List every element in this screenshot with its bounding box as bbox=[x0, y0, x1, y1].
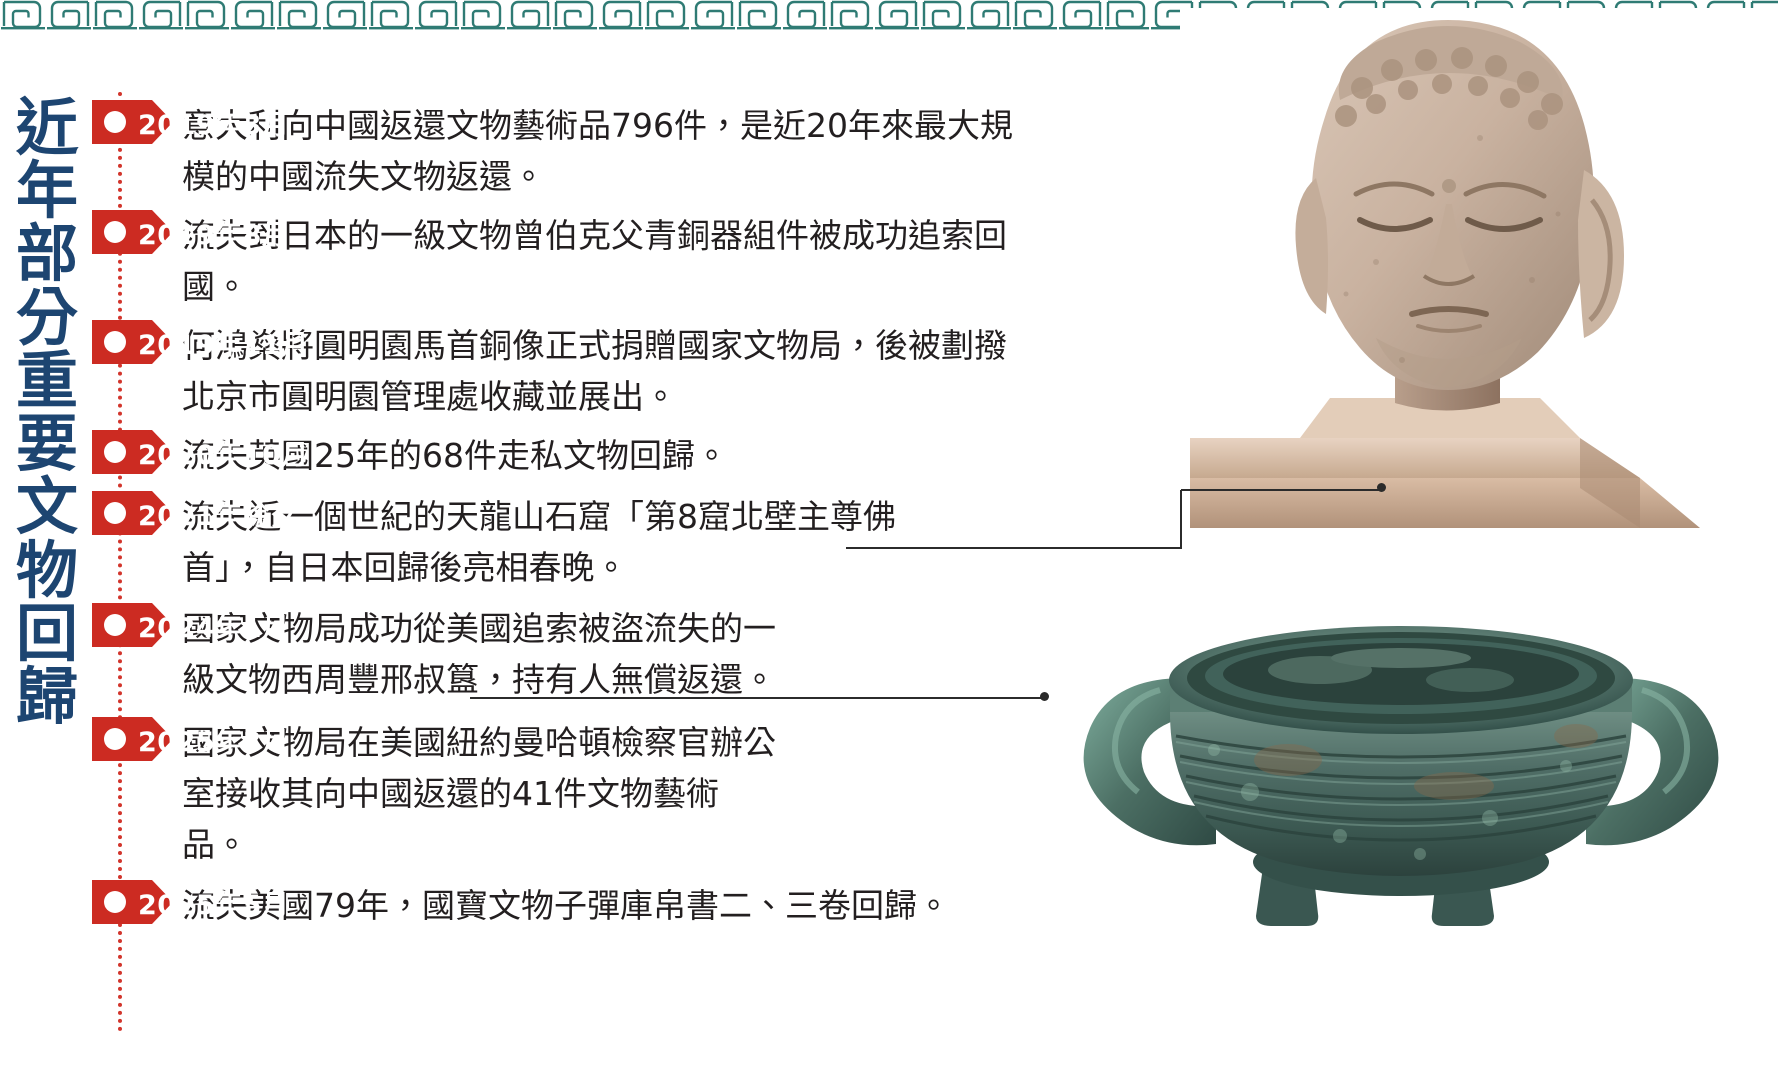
timeline-entry: 2021年除夕流失近一個世紀的天龍山石窟「第8窟北壁主尊佛首」，自日本回歸後亮相… bbox=[92, 491, 1202, 593]
timeline-entry: 2024年1月國家文物局成功從美國追索被盜流失的一級文物西周豐邢叔簋，持有人無償… bbox=[92, 603, 1202, 705]
timeline-entry-text: 意大利向中國返還文物藝術品796件，是近20年來最大規模的中國流失文物返還。 bbox=[182, 100, 1022, 202]
border-motif-cell bbox=[782, 0, 828, 30]
page-title-char: 要 bbox=[8, 412, 86, 475]
timeline-date-chip[interactable]: 2019年3月 bbox=[92, 100, 152, 144]
border-motif-cell bbox=[368, 0, 414, 30]
border-motif-cell bbox=[460, 0, 506, 30]
border-motif-cell bbox=[414, 0, 460, 30]
page-title: 近年部分重要文物回歸 bbox=[8, 96, 86, 728]
timeline-entry: 2019年11月何鴻燊將圓明園馬首銅像正式捐贈國家文物局，後被劃撥北京市圓明園管… bbox=[92, 320, 1202, 422]
bullet-dot-icon bbox=[104, 221, 126, 243]
leader-dot-gui bbox=[1040, 692, 1049, 701]
border-motif-cell bbox=[1058, 0, 1104, 30]
timeline-entry-text: 流失到日本的一級文物曾伯克父青銅器組件被成功追索回國。 bbox=[182, 210, 1022, 312]
timeline-entry: 2020年10月流失英國25年的68件走私文物回歸。 bbox=[92, 430, 1202, 481]
timeline-entry-paragraph: 流失美國79年，國寶文物子彈庫帛書二、三卷回歸。 bbox=[182, 880, 950, 931]
bullet-dot-icon bbox=[104, 441, 126, 463]
timeline-date-chip[interactable]: 2024年1月 bbox=[92, 603, 152, 647]
timeline-entry: 2025年3月國家文物局在美國紐約曼哈頓檢察官辦公室接收其向中國返還的41件文物… bbox=[92, 717, 1202, 870]
border-motif-cell bbox=[230, 0, 276, 30]
page-title-char: 近 bbox=[8, 96, 86, 159]
page-title-char: 部 bbox=[8, 222, 86, 285]
border-motif-cell bbox=[276, 0, 322, 30]
timeline-date-chip[interactable]: 2021年除夕 bbox=[92, 491, 152, 535]
page-title-char: 年 bbox=[8, 159, 86, 222]
timeline-date-chip[interactable]: 2025年3月 bbox=[92, 717, 152, 761]
border-motif-cell bbox=[0, 0, 46, 30]
border-motif-cell bbox=[874, 0, 920, 30]
bullet-dot-icon bbox=[104, 728, 126, 750]
timeline-date-label: 2019年3月 bbox=[138, 103, 289, 142]
timeline-date-label: 2025年3月 bbox=[138, 720, 289, 759]
timeline-entry: 2025年5月流失美國79年，國寶文物子彈庫帛書二、三卷回歸。 bbox=[92, 880, 1202, 931]
timeline-date-label: 2020年10月 bbox=[138, 433, 309, 472]
timeline-date-label: 2019年11月 bbox=[138, 323, 309, 362]
timeline-entry: 2019年3月意大利向中國返還文物藝術品796件，是近20年來最大規模的中國流失… bbox=[92, 100, 1202, 202]
timeline-entry-paragraph: 流失到日本的一級文物曾伯克父青銅器組件被成功追索回國。 bbox=[182, 210, 1022, 312]
border-motif-cell bbox=[644, 0, 690, 30]
bullet-dot-icon bbox=[104, 891, 126, 913]
border-motif-cell bbox=[92, 0, 138, 30]
leader-line-buddha bbox=[846, 547, 1182, 549]
timeline-entry-text: 流失美國79年，國寶文物子彈庫帛書二、三卷回歸。 bbox=[182, 880, 950, 931]
leader-line-buddha-upper bbox=[1181, 489, 1381, 491]
border-motif-cell bbox=[736, 0, 782, 30]
timeline-date-label: 2021年除夕 bbox=[138, 494, 298, 533]
page-title-char: 回 bbox=[8, 602, 86, 665]
leader-line-gui bbox=[470, 697, 1045, 699]
border-motif-cell bbox=[322, 0, 368, 30]
timeline-entry-paragraph: 意大利向中國返還文物藝術品796件，是近20年來最大規模的中國流失文物返還。 bbox=[182, 100, 1022, 202]
border-motif-cell bbox=[46, 0, 92, 30]
timeline-date-chip[interactable]: 2019年11月 bbox=[92, 320, 152, 364]
timeline-date-label: 2024年1月 bbox=[138, 606, 289, 645]
bullet-dot-icon bbox=[104, 111, 126, 133]
bullet-dot-icon bbox=[104, 331, 126, 353]
border-motif-cell bbox=[828, 0, 874, 30]
timeline-date-label: 2019年8月 bbox=[138, 213, 289, 252]
page-title-char: 物 bbox=[8, 539, 86, 602]
page-title-char: 文 bbox=[8, 475, 86, 538]
border-motif-cell bbox=[598, 0, 644, 30]
border-motif-cell bbox=[1012, 0, 1058, 30]
border-motif-cell bbox=[1104, 0, 1150, 30]
border-motif-cell bbox=[920, 0, 966, 30]
page-title-char: 重 bbox=[8, 349, 86, 412]
bullet-dot-icon bbox=[104, 502, 126, 524]
timeline-date-chip[interactable]: 2020年10月 bbox=[92, 430, 152, 474]
infographic-page: 近年部分重要文物回歸 bbox=[0, 0, 1778, 1078]
border-motif-cell bbox=[966, 0, 1012, 30]
timeline-date-chip[interactable]: 2019年8月 bbox=[92, 210, 152, 254]
timeline-date-label: 2025年5月 bbox=[138, 883, 289, 922]
timeline-entry: 2019年8月流失到日本的一級文物曾伯克父青銅器組件被成功追索回國。 bbox=[92, 210, 1202, 312]
border-motif-cell bbox=[690, 0, 736, 30]
border-motif-cell bbox=[184, 0, 230, 30]
leader-line-buddha-riser bbox=[1180, 490, 1182, 549]
page-title-char: 分 bbox=[8, 286, 86, 349]
timeline-list: 2019年3月意大利向中國返還文物藝術品796件，是近20年來最大規模的中國流失… bbox=[92, 100, 1202, 931]
border-motif-cell bbox=[506, 0, 552, 30]
border-motif-cell bbox=[552, 0, 598, 30]
timeline-date-chip[interactable]: 2025年5月 bbox=[92, 880, 152, 924]
border-motif-cell bbox=[138, 0, 184, 30]
bullet-dot-icon bbox=[104, 614, 126, 636]
buddha-head-photo bbox=[1180, 8, 1778, 560]
page-title-char: 歸 bbox=[8, 665, 86, 728]
